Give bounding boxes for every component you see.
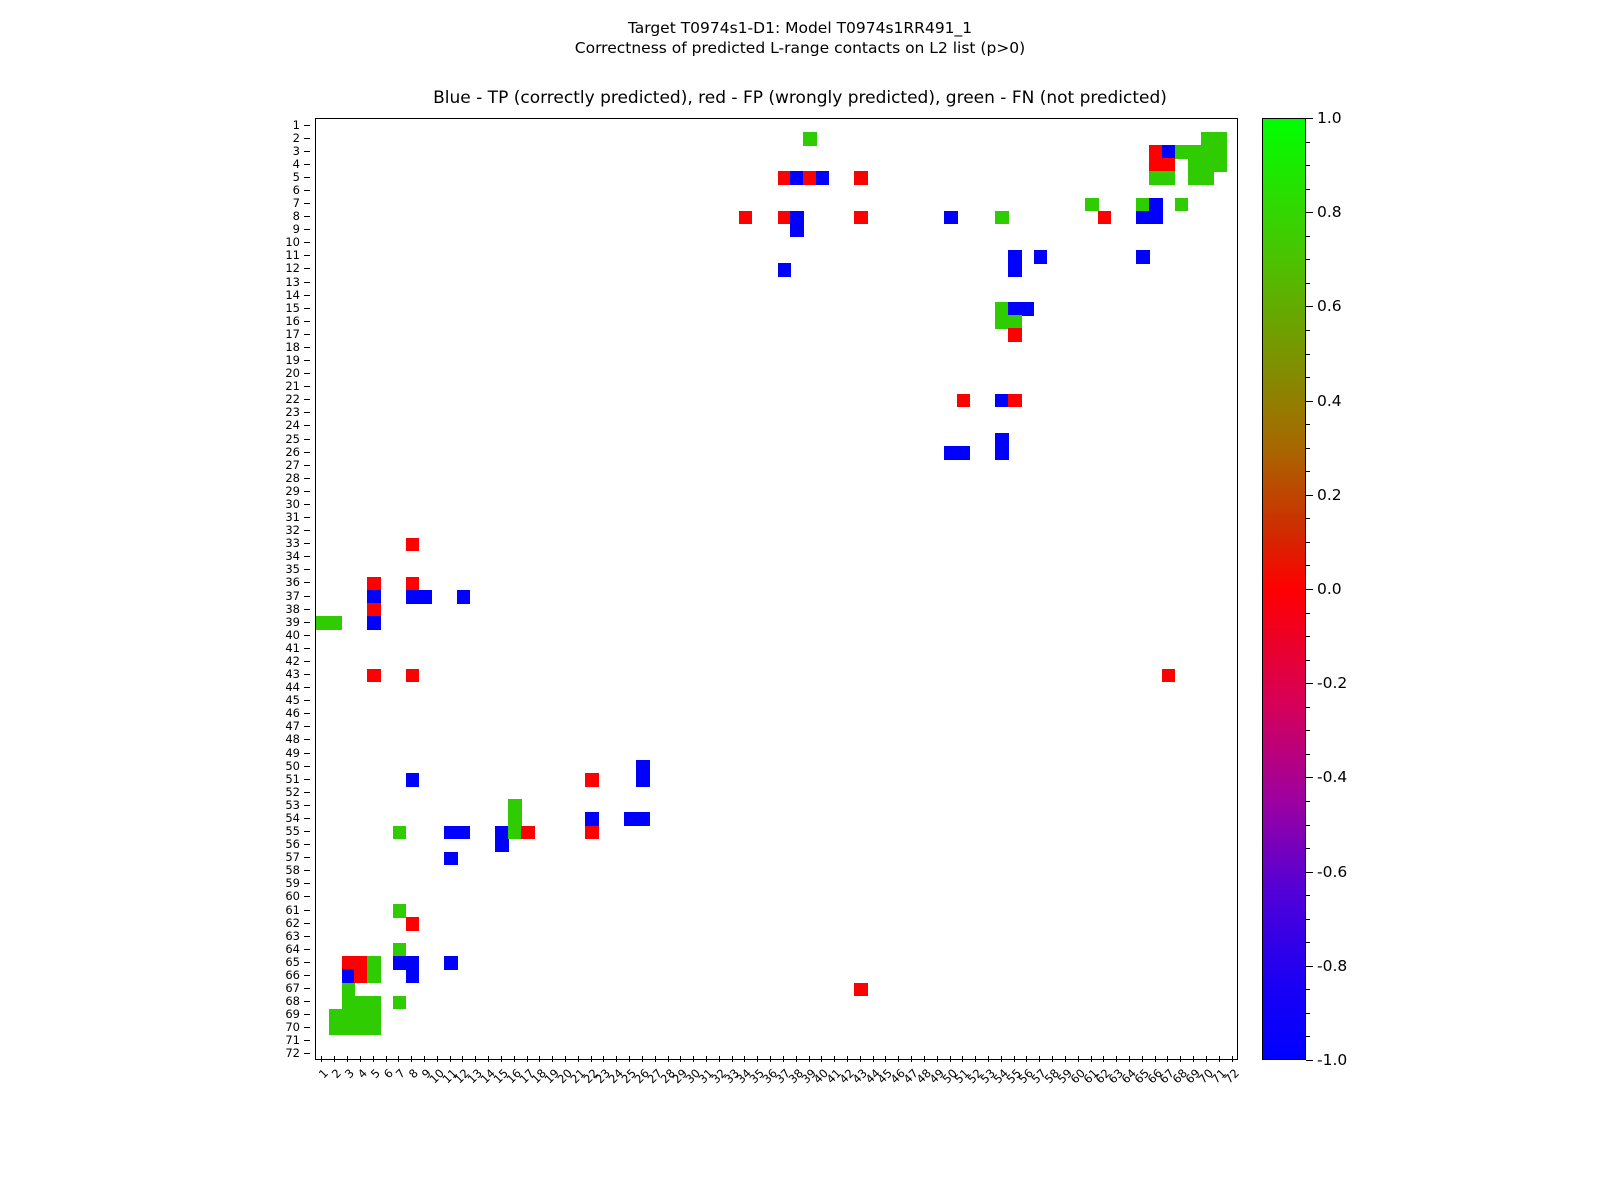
colorbar-minor-tick <box>1306 306 1310 307</box>
y-tick-mark <box>304 622 310 623</box>
colorbar-minor-tick <box>1306 895 1310 896</box>
y-tick-label: 15 <box>285 301 300 315</box>
y-tick-mark <box>304 399 310 400</box>
contact-cell <box>1213 145 1226 159</box>
y-tick-mark <box>304 556 310 557</box>
x-tick-mark <box>757 1056 758 1062</box>
x-tick-mark <box>373 1056 374 1062</box>
contact-cell <box>1188 171 1201 185</box>
contact-cell <box>944 446 957 460</box>
x-tick-mark <box>1193 1056 1194 1062</box>
x-tick-mark <box>1219 1056 1220 1062</box>
x-tick-mark <box>885 1056 886 1062</box>
y-tick-mark <box>304 648 310 649</box>
y-tick-label: 1 <box>293 118 300 132</box>
contact-cell <box>1008 328 1021 342</box>
x-tick-mark <box>616 1056 617 1062</box>
colorbar-minor-tick <box>1306 848 1310 849</box>
contact-cell <box>636 812 649 826</box>
x-tick-mark <box>1026 1056 1027 1062</box>
colorbar-minor-tick <box>1306 683 1310 684</box>
colorbar-minor-tick <box>1306 754 1310 755</box>
colorbar-minor-tick <box>1306 989 1310 990</box>
contact-cell <box>1175 145 1188 159</box>
y-tick-mark <box>304 844 310 845</box>
y-tick-label: 29 <box>285 484 300 498</box>
colorbar-tick-label: -1.0 <box>1317 1051 1347 1069</box>
y-tick-mark <box>304 504 310 505</box>
contact-cell <box>329 1022 342 1036</box>
contact-cell <box>406 577 419 591</box>
contact-cell <box>1149 198 1162 212</box>
contact-cell <box>1201 145 1214 159</box>
colorbar-minor-tick <box>1306 401 1310 402</box>
y-tick-label: 43 <box>285 667 300 681</box>
contact-cell <box>457 590 470 604</box>
y-tick-mark <box>304 962 310 963</box>
contact-cell <box>944 211 957 225</box>
x-tick-mark <box>514 1056 515 1062</box>
colorbar-minor-tick <box>1306 801 1310 802</box>
x-tick-mark <box>975 1056 976 1062</box>
contact-cell <box>790 211 803 225</box>
y-tick-label: 18 <box>285 340 300 354</box>
y-tick-label: 60 <box>285 889 300 903</box>
y-tick-label: 47 <box>285 719 300 733</box>
y-tick-mark <box>304 321 310 322</box>
y-tick-label: 20 <box>285 366 300 380</box>
x-tick-mark <box>386 1056 387 1062</box>
y-tick-label: 49 <box>285 746 300 760</box>
colorbar-tick-label: 0.2 <box>1317 486 1342 504</box>
y-tick-mark <box>304 465 310 466</box>
colorbar-tick-label: 0.4 <box>1317 392 1342 410</box>
contact-cell <box>1201 158 1214 172</box>
y-tick-mark <box>304 596 310 597</box>
colorbar-tick-label: -0.8 <box>1317 957 1347 975</box>
title-line-2: Correctness of predicted L-range contact… <box>0 38 1600 58</box>
y-tick-label: 8 <box>293 209 300 223</box>
x-tick-mark <box>527 1056 528 1062</box>
y-tick-label: 6 <box>293 183 300 197</box>
x-tick-mark <box>552 1056 553 1062</box>
contact-cell <box>854 171 867 185</box>
y-tick-mark <box>304 1027 310 1028</box>
contact-cell <box>995 394 1008 408</box>
x-tick-mark <box>424 1056 425 1062</box>
colorbar-minor-tick <box>1306 872 1310 873</box>
y-tick-mark <box>304 674 310 675</box>
x-tick-mark <box>1129 1056 1130 1062</box>
colorbar-minor-tick <box>1306 236 1310 237</box>
y-tick-mark <box>304 910 310 911</box>
contact-cell <box>521 826 534 840</box>
x-tick-mark <box>437 1056 438 1062</box>
x-tick-mark <box>847 1056 848 1062</box>
x-tick-mark <box>988 1056 989 1062</box>
y-tick-mark <box>304 1001 310 1002</box>
contact-cell <box>367 616 380 630</box>
y-tick-label: 48 <box>285 732 300 746</box>
colorbar-minor-tick <box>1306 613 1310 614</box>
colorbar-minor-tick <box>1306 495 1310 496</box>
y-tick-label: 28 <box>285 471 300 485</box>
contact-cell <box>816 171 829 185</box>
contact-cell <box>367 996 380 1010</box>
colorbar-minor-tick <box>1306 165 1310 166</box>
y-tick-label: 52 <box>285 785 300 799</box>
y-tick-mark <box>304 569 310 570</box>
y-tick-mark <box>304 988 310 989</box>
x-tick-mark <box>591 1056 592 1062</box>
contact-cell <box>739 211 752 225</box>
y-tick-mark <box>304 373 310 374</box>
colorbar-minor-tick <box>1306 259 1310 260</box>
colorbar-minor-tick <box>1306 1036 1310 1037</box>
contact-cell <box>995 315 1008 329</box>
colorbar-minor-tick <box>1306 730 1310 731</box>
y-tick-label: 61 <box>285 903 300 917</box>
x-tick-mark <box>706 1056 707 1062</box>
contact-cell <box>1098 211 1111 225</box>
x-tick-mark <box>1206 1056 1207 1062</box>
contact-cell <box>508 812 521 826</box>
y-tick-mark <box>304 125 310 126</box>
y-tick-mark <box>304 439 310 440</box>
y-tick-mark <box>304 268 310 269</box>
x-tick-mark <box>796 1056 797 1062</box>
contact-cell <box>1008 263 1021 277</box>
figure-subtitle: Blue - TP (correctly predicted), red - F… <box>0 88 1600 108</box>
y-tick-mark <box>304 543 310 544</box>
contact-cell <box>585 773 598 787</box>
contact-cell <box>367 1022 380 1036</box>
colorbar-minor-tick <box>1306 424 1310 425</box>
x-tick-mark <box>821 1056 822 1062</box>
x-tick-mark <box>1091 1056 1092 1062</box>
contact-cell <box>995 433 1008 447</box>
y-tick-label: 14 <box>285 288 300 302</box>
x-tick-mark <box>1078 1056 1079 1062</box>
contact-cell <box>1008 302 1021 316</box>
contact-cell <box>1162 158 1175 172</box>
y-tick-mark <box>304 255 310 256</box>
y-tick-label: 45 <box>285 693 300 707</box>
y-tick-mark <box>304 229 310 230</box>
y-tick-mark <box>304 1053 310 1054</box>
title-line-1: Target T0974s1-D1: Model T0974s1RR491_1 <box>0 18 1600 38</box>
y-tick-label: 53 <box>285 798 300 812</box>
contact-cell <box>329 1009 342 1023</box>
contact-cell <box>316 616 329 630</box>
x-tick-mark <box>732 1056 733 1062</box>
x-tick-mark <box>655 1056 656 1062</box>
y-tick-mark <box>304 779 310 780</box>
y-tick-label: 46 <box>285 706 300 720</box>
y-tick-label: 13 <box>285 275 300 289</box>
x-tick-mark <box>911 1056 912 1062</box>
contact-cell <box>854 983 867 997</box>
contact-cell <box>803 132 816 146</box>
contact-cell <box>495 826 508 840</box>
contact-cell <box>624 812 637 826</box>
colorbar-minor-tick <box>1306 1013 1310 1014</box>
contact-cell <box>1149 158 1162 172</box>
y-tick-mark <box>304 360 310 361</box>
y-tick-label: 50 <box>285 759 300 773</box>
x-tick-mark <box>1167 1056 1168 1062</box>
x-tick-mark <box>629 1056 630 1062</box>
y-tick-label: 62 <box>285 916 300 930</box>
contact-cell <box>778 263 791 277</box>
y-tick-label: 11 <box>285 248 300 262</box>
x-tick-mark <box>347 1056 348 1062</box>
y-tick-label: 55 <box>285 824 300 838</box>
y-tick-mark <box>304 635 310 636</box>
y-tick-label: 56 <box>285 837 300 851</box>
colorbar-minor-tick <box>1306 589 1310 590</box>
colorbar-minor-tick <box>1306 825 1310 826</box>
contact-cell <box>342 956 355 970</box>
x-tick-mark <box>1052 1056 1053 1062</box>
y-tick-mark <box>304 412 310 413</box>
colorbar-minor-tick <box>1306 330 1310 331</box>
contact-cell <box>508 799 521 813</box>
contact-cell <box>636 760 649 774</box>
x-tick-mark <box>1103 1056 1104 1062</box>
x-tick-mark <box>1014 1056 1015 1062</box>
contact-cell <box>1162 669 1175 683</box>
y-tick-mark <box>304 190 310 191</box>
x-tick-mark <box>809 1056 810 1062</box>
x-tick-mark <box>937 1056 938 1062</box>
y-tick-label: 71 <box>285 1033 300 1047</box>
contact-cell <box>1149 171 1162 185</box>
colorbar-tick-label: 0.8 <box>1317 203 1342 221</box>
x-tick-mark <box>950 1056 951 1062</box>
y-tick-label: 38 <box>285 602 300 616</box>
contact-cell <box>406 956 419 970</box>
contact-cell <box>1162 171 1175 185</box>
x-tick-mark <box>693 1056 694 1062</box>
y-tick-mark <box>304 831 310 832</box>
colorbar-minor-tick <box>1306 377 1310 378</box>
x-tick-mark <box>642 1056 643 1062</box>
y-tick-mark <box>304 883 310 884</box>
x-tick-mark <box>488 1056 489 1062</box>
y-tick-label: 26 <box>285 445 300 459</box>
x-tick-mark <box>1232 1056 1233 1062</box>
y-tick-mark <box>304 386 310 387</box>
contact-cell <box>1085 198 1098 212</box>
y-tick-mark <box>304 805 310 806</box>
contact-cell <box>1136 250 1149 264</box>
y-tick-label: 21 <box>285 379 300 393</box>
contact-cell <box>1201 171 1214 185</box>
y-tick-label: 44 <box>285 680 300 694</box>
y-tick-mark <box>304 661 310 662</box>
contact-cell <box>1213 158 1226 172</box>
contact-cell <box>508 826 521 840</box>
x-tick-mark <box>860 1056 861 1062</box>
contact-cell <box>790 171 803 185</box>
contact-cell <box>1213 132 1226 146</box>
x-tick-mark <box>398 1056 399 1062</box>
x-tick-mark <box>834 1056 835 1062</box>
contact-cell <box>1175 198 1188 212</box>
x-tick-mark <box>1116 1056 1117 1062</box>
colorbar-minor-tick <box>1306 636 1310 637</box>
contact-cell <box>444 852 457 866</box>
y-tick-label: 59 <box>285 876 300 890</box>
y-tick-label: 10 <box>285 235 300 249</box>
colorbar-minor-tick <box>1306 777 1310 778</box>
colorbar-minor-tick <box>1306 707 1310 708</box>
y-tick-label: 41 <box>285 641 300 655</box>
contact-cell <box>342 1009 355 1023</box>
y-tick-mark <box>304 700 310 701</box>
y-tick-mark <box>304 491 310 492</box>
contact-cell <box>393 996 406 1010</box>
colorbar-minor-tick <box>1306 542 1310 543</box>
x-tick-mark <box>578 1056 579 1062</box>
contact-cell <box>1188 145 1201 159</box>
contact-cell <box>1034 250 1047 264</box>
contact-cell <box>957 394 970 408</box>
y-tick-label: 67 <box>285 981 300 995</box>
y-tick-label: 4 <box>293 157 300 171</box>
x-tick-mark <box>680 1056 681 1062</box>
contact-cell <box>803 171 816 185</box>
x-tick-mark <box>1065 1056 1066 1062</box>
contact-cell <box>495 839 508 853</box>
contact-cell <box>636 773 649 787</box>
contact-cell <box>1008 315 1021 329</box>
colorbar-ticks: 1.00.80.60.40.20.0-0.2-0.4-0.6-0.8-1.0 <box>1262 118 1382 1060</box>
y-tick-label: 68 <box>285 994 300 1008</box>
contact-cell <box>354 969 367 983</box>
y-tick-label: 25 <box>285 432 300 446</box>
contact-cell <box>585 826 598 840</box>
contact-cell <box>854 211 867 225</box>
contact-cell <box>995 302 1008 316</box>
y-tick-label: 65 <box>285 955 300 969</box>
y-tick-mark <box>304 177 310 178</box>
colorbar-minor-tick <box>1306 189 1310 190</box>
y-tick-mark <box>304 609 310 610</box>
y-tick-label: 72 <box>285 1046 300 1060</box>
y-tick-label: 39 <box>285 615 300 629</box>
y-tick-label: 23 <box>285 405 300 419</box>
colorbar-tick-label: 0.0 <box>1317 580 1342 598</box>
y-tick-label: 2 <box>293 131 300 145</box>
colorbar-minor-tick <box>1306 118 1310 119</box>
y-tick-mark <box>304 713 310 714</box>
y-tick-mark <box>304 766 310 767</box>
x-tick-mark <box>668 1056 669 1062</box>
contact-cell <box>790 224 803 238</box>
y-tick-label: 58 <box>285 863 300 877</box>
y-tick-mark <box>304 975 310 976</box>
y-tick-mark <box>304 1040 310 1041</box>
y-tick-mark <box>304 726 310 727</box>
colorbar-minor-tick <box>1306 966 1310 967</box>
y-tick-mark <box>304 949 310 950</box>
contact-cell <box>457 826 470 840</box>
y-tick-label: 12 <box>285 261 300 275</box>
y-tick-label: 30 <box>285 497 300 511</box>
contact-cell <box>1021 302 1034 316</box>
contact-cell <box>367 577 380 591</box>
x-tick-mark <box>360 1056 361 1062</box>
x-tick-mark <box>321 1056 322 1062</box>
y-tick-mark <box>304 753 310 754</box>
x-tick-mark <box>770 1056 771 1062</box>
contact-cell <box>367 590 380 604</box>
y-tick-label: 33 <box>285 536 300 550</box>
x-tick-mark <box>1001 1056 1002 1062</box>
colorbar-minor-tick <box>1306 471 1310 472</box>
x-tick-mark <box>924 1056 925 1062</box>
x-tick-mark <box>962 1056 963 1062</box>
y-tick-mark <box>304 792 310 793</box>
contact-cell <box>393 943 406 957</box>
contact-cell <box>1149 211 1162 225</box>
y-tick-mark <box>304 936 310 937</box>
y-tick-mark <box>304 151 310 152</box>
x-tick-mark <box>450 1056 451 1062</box>
x-tick-mark <box>898 1056 899 1062</box>
y-tick-label: 24 <box>285 418 300 432</box>
colorbar-minor-tick <box>1306 1060 1310 1061</box>
colorbar-minor-tick <box>1306 448 1310 449</box>
contact-cell <box>367 669 380 683</box>
y-tick-label: 7 <box>293 196 300 210</box>
y-tick-label: 36 <box>285 575 300 589</box>
y-tick-mark <box>304 216 310 217</box>
contact-cell <box>995 446 1008 460</box>
contact-map-plot[interactable] <box>315 118 1238 1060</box>
y-tick-label: 57 <box>285 850 300 864</box>
contact-cell <box>778 211 791 225</box>
y-tick-label: 70 <box>285 1020 300 1034</box>
y-tick-mark <box>304 295 310 296</box>
y-tick-mark <box>304 923 310 924</box>
y-tick-mark <box>304 687 310 688</box>
y-tick-mark <box>304 425 310 426</box>
y-tick-label: 64 <box>285 942 300 956</box>
contact-cell <box>406 969 419 983</box>
contact-cell <box>354 996 367 1010</box>
contact-cell <box>367 1009 380 1023</box>
contact-cell <box>406 773 419 787</box>
figure-title: Target T0974s1-D1: Model T0974s1RR491_1 … <box>0 18 1600 58</box>
contact-cell <box>1008 394 1021 408</box>
contact-cell <box>1162 145 1175 159</box>
contact-cell <box>342 983 355 997</box>
y-tick-label: 34 <box>285 549 300 563</box>
colorbar-minor-tick <box>1306 354 1310 355</box>
contact-cell <box>957 446 970 460</box>
contact-cell <box>1136 198 1149 212</box>
contact-cell <box>393 956 406 970</box>
y-tick-mark <box>304 530 310 531</box>
contact-cell <box>1188 158 1201 172</box>
contact-cell <box>1201 132 1214 146</box>
colorbar-minor-tick <box>1306 283 1310 284</box>
y-tick-mark <box>304 818 310 819</box>
colorbar-tick-label: 1.0 <box>1317 109 1342 127</box>
